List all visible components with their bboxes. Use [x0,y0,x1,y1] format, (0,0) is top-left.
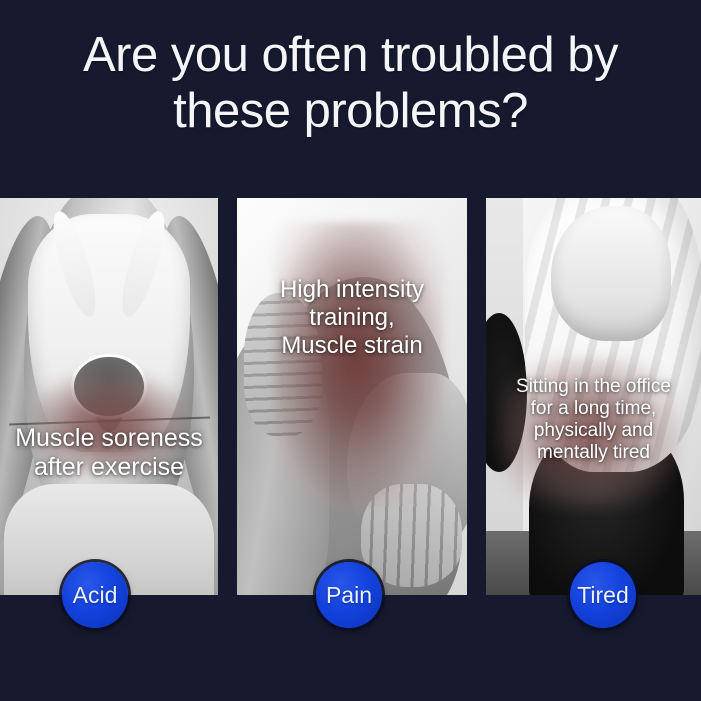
panel-divider-1 [218,198,237,595]
panel-strip: Muscle soreness after exercise High inte… [0,198,701,595]
panel-acid[interactable]: Muscle soreness after exercise [0,198,218,595]
bra-strap-left [45,208,103,321]
panel-divider-2 [467,198,486,595]
panel-pain[interactable]: High intensity training, Muscle strain [237,198,467,595]
status-badge-tired[interactable]: Tired [570,562,636,628]
promo-poster: Are you often troubled by these problems… [0,0,701,701]
status-badge-pain[interactable]: Pain [316,562,382,628]
page-title: Are you often troubled by these problems… [0,28,701,140]
pain-glow-icon [274,222,444,508]
panel-acid-caption: Muscle soreness after exercise [0,424,218,482]
raised-arm-shape [551,206,671,341]
panel-tired[interactable]: Sitting in the office for a long time, p… [486,198,701,595]
panel-pain-caption: High intensity training, Muscle strain [237,276,467,359]
bra-strap-right [115,208,173,321]
panel-tired-caption: Sitting in the office for a long time, p… [486,376,701,464]
status-badge-acid[interactable]: Acid [62,562,128,628]
